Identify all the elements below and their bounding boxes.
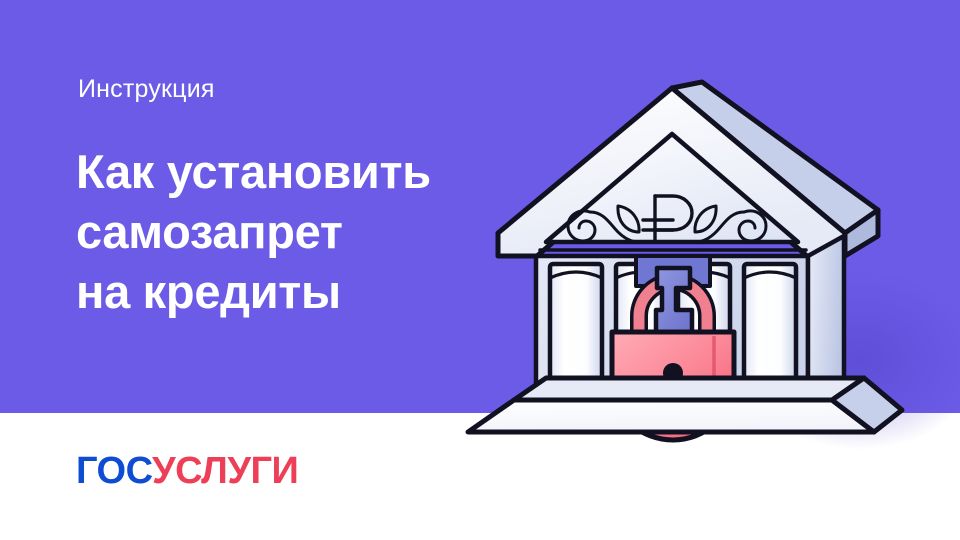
gosuslugi-instruction-banner: Инструкция Как установить самозапрет на … xyxy=(0,0,960,540)
base-top xyxy=(514,378,864,400)
bank-building-with-padlock-illustration xyxy=(440,60,960,460)
eyebrow-label: Инструкция xyxy=(78,74,215,104)
logo-text-gos: ГОС xyxy=(76,450,152,492)
headline-line-1: Как установить xyxy=(76,142,506,202)
headline-line-3: на кредиты xyxy=(76,262,506,322)
building-base xyxy=(468,378,902,432)
logo-text-uslugi: УСЛУГИ xyxy=(152,450,298,492)
headline-line-2: самозапрет xyxy=(76,202,506,262)
right-side-wall xyxy=(808,236,844,400)
page-title: Как установить самозапрет на кредиты xyxy=(76,142,506,322)
gosuslugi-logo[interactable]: ГОСУСЛУГИ xyxy=(76,452,298,490)
base-front xyxy=(468,400,874,432)
